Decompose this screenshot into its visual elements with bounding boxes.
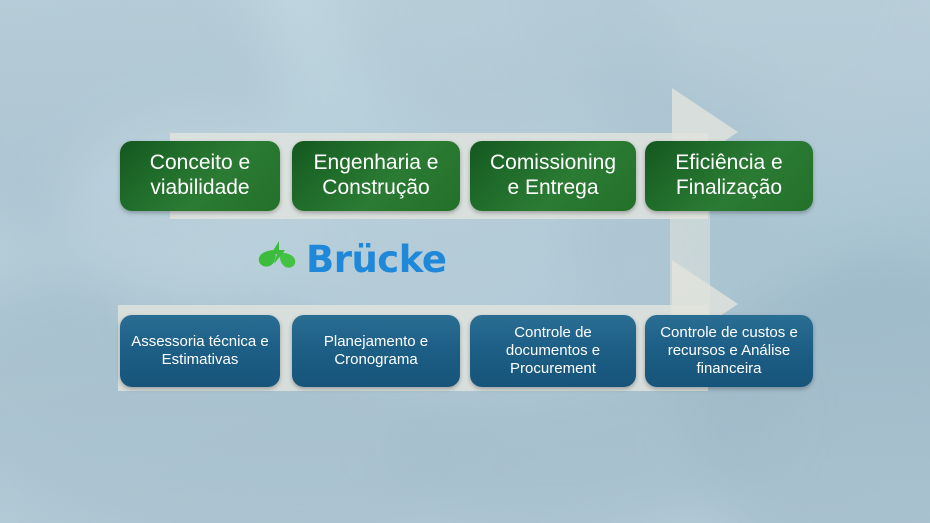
slide-canvas: Conceito e viabilidade Engenharia e Cons…: [0, 0, 930, 523]
phase-card-2-line1: Engenharia e: [314, 151, 439, 174]
phase-card-3-line2: e Entrega: [507, 176, 598, 199]
service-card-2-line2: Cronograma: [334, 351, 417, 368]
phase-card-3[interactable]: Comissioning e Entrega: [470, 141, 636, 211]
service-card-3-line2: documentos e: [506, 342, 600, 359]
service-card-3-line1: Controle de: [514, 324, 592, 341]
phase-card-1-line2: viabilidade: [150, 176, 249, 199]
service-card-1-line2: Estimativas: [162, 351, 239, 368]
service-card-4-line3: financeira: [696, 360, 761, 377]
phase-card-1-line1: Conceito e: [150, 151, 250, 174]
service-card-3-line3: Procurement: [510, 360, 596, 377]
service-card-2[interactable]: Planejamento e Cronograma: [292, 315, 460, 387]
service-card-1[interactable]: Assessoria técnica e Estimativas: [120, 315, 280, 387]
brucke-logo: Brücke: [256, 238, 446, 280]
logo-wordmark: Brücke: [306, 241, 446, 278]
phase-card-2[interactable]: Engenharia e Construção: [292, 141, 460, 211]
background-overlay-wash: [0, 0, 930, 523]
phase-card-4-line2: Finalização: [676, 176, 782, 199]
service-card-2-line1: Planejamento e: [324, 333, 428, 350]
phase-card-3-line1: Comissioning: [490, 151, 616, 174]
phase-card-2-line2: Construção: [322, 176, 429, 199]
leaf-sprout-icon: [256, 238, 300, 280]
service-card-4-line2: recursos e Análise: [668, 342, 791, 359]
service-card-4-line1: Controle de custos e: [660, 324, 798, 341]
service-card-4[interactable]: Controle de custos e recursos e Análise …: [645, 315, 813, 387]
phase-card-1[interactable]: Conceito e viabilidade: [120, 141, 280, 211]
phase-card-4[interactable]: Eficiência e Finalização: [645, 141, 813, 211]
service-card-3[interactable]: Controle de documentos e Procurement: [470, 315, 636, 387]
service-card-1-line1: Assessoria técnica e: [131, 333, 269, 350]
phase-card-4-line1: Eficiência e: [675, 151, 782, 174]
